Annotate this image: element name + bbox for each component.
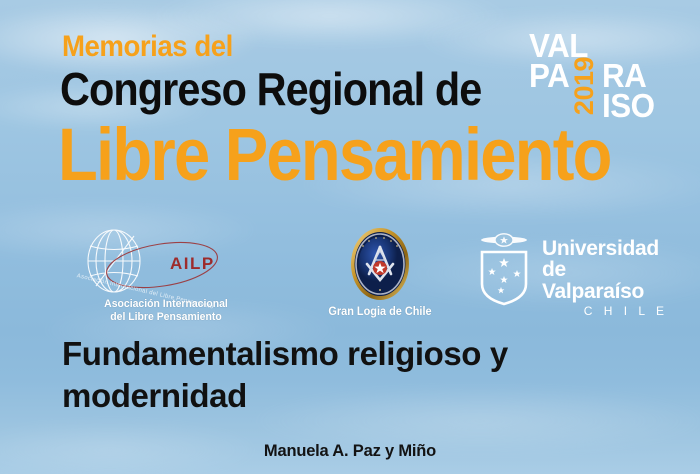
talk-author: Manuela A. Paz y Miño bbox=[0, 442, 700, 461]
ailp-caption-line-2: del Libre Pensamiento bbox=[71, 311, 261, 324]
valparaiso-mark-right: RA ISO bbox=[602, 61, 655, 121]
congress-header: Memorias del Congreso Regional de Libre … bbox=[0, 0, 700, 228]
masonic-square-compass-icon bbox=[341, 224, 419, 304]
header-line-black: Congreso Regional de bbox=[60, 66, 481, 112]
gran-logia-emblem bbox=[341, 224, 419, 304]
talk-title: Fundamentalismo religioso y modernidad bbox=[62, 333, 662, 417]
uv-line-universidad: Universidad bbox=[542, 238, 670, 259]
ailp-caption: Asociación Internacional del Libre Pensa… bbox=[71, 298, 261, 323]
header-line-orange: Libre Pensamiento bbox=[58, 118, 611, 192]
valparaiso-2019-mark: VAL PA RA ISO 2019 bbox=[529, 31, 661, 143]
globe-wireframe-icon bbox=[66, 228, 266, 300]
talk-title-line-2: modernidad bbox=[62, 375, 662, 417]
ailp-wordmark: AILP bbox=[170, 254, 215, 274]
universidad-valparaiso-wordmark: Universidad de Valparaíso C H I L E bbox=[542, 238, 670, 319]
talk-title-line-1: Fundamentalismo religioso y bbox=[62, 333, 662, 375]
logo-universidad-de-valparaiso: Universidad de Valparaíso C H I L E bbox=[462, 228, 678, 308]
valparaiso-syllable-iso: ISO bbox=[602, 91, 655, 121]
uv-line-chile: C H I L E bbox=[542, 303, 670, 319]
uv-line-de-valparaiso: de Valparaíso bbox=[542, 259, 670, 303]
presentation-slide: Memorias del Congreso Regional de Libre … bbox=[0, 0, 700, 474]
ailp-caption-line-1: Asociación Internacional bbox=[71, 298, 261, 311]
event-year: 2019 bbox=[571, 57, 598, 115]
organiser-logo-row: AILP Asociación Internacional del Libre … bbox=[0, 228, 700, 336]
gran-logia-caption: Gran Logia de Chile bbox=[314, 306, 447, 319]
logo-gran-logia-de-chile: Gran Logia de Chile bbox=[310, 224, 450, 319]
logo-ailp: AILP Asociación Internacional del Libre … bbox=[66, 228, 266, 323]
universidad-valparaiso-emblem: Universidad de Valparaíso C H I L E bbox=[470, 228, 670, 308]
ailp-emblem: AILP Asociación Internacional del Libre … bbox=[66, 228, 266, 300]
shield-southern-cross-icon bbox=[470, 230, 540, 308]
header-kicker: Memorias del bbox=[62, 32, 233, 62]
